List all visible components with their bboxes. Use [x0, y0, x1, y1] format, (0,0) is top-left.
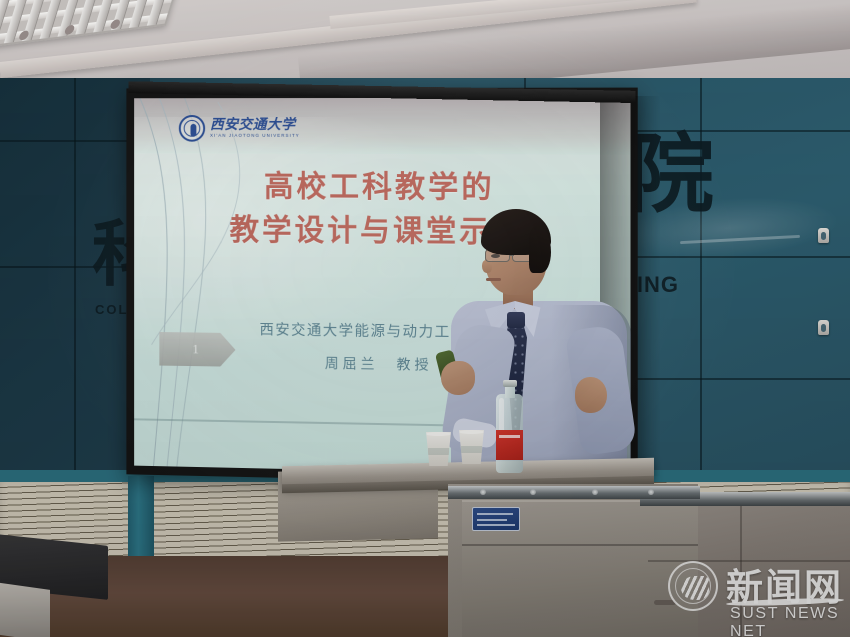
water-bottle-cap	[503, 380, 517, 387]
slide-title-line1: 高校工科教学的	[264, 170, 495, 206]
lectern-info-plate	[472, 507, 520, 531]
watermark-english: SUST NEWS NET	[730, 605, 844, 637]
lecture-hall-photo: 院 科 RING COLL 西安交通大学 XI'AN JIAOTONG	[0, 0, 850, 637]
slide-banner-arrow: 1	[159, 332, 235, 367]
paper-cup-left	[425, 432, 452, 466]
ceiling-louvre-light-icon	[0, 0, 183, 48]
xjtu-logo-chinese: 西安交通大学	[210, 118, 300, 132]
water-bottle	[496, 380, 523, 473]
wall-hook-icon	[818, 228, 829, 243]
presenter-left-hand	[441, 361, 475, 395]
xjtu-logo-english: XI'AN JIAOTONG UNIVERSITY	[210, 134, 300, 139]
foreground-equipment-secondary	[0, 582, 50, 637]
wainscot-column	[128, 476, 154, 560]
slide-banner-label: 1	[192, 341, 198, 357]
paper-cup-right	[458, 430, 485, 464]
xjtu-seal-icon	[179, 115, 205, 142]
water-bottle-label	[496, 430, 523, 460]
presenter-right-hand	[575, 377, 607, 413]
xjtu-logo: 西安交通大学 XI'AN JIAOTONG UNIVERSITY	[179, 115, 300, 142]
wall-hook-icon	[818, 320, 829, 335]
watermark: 新闻网 SUST NEWS NET	[668, 555, 844, 627]
news-emblem-icon	[668, 561, 718, 611]
